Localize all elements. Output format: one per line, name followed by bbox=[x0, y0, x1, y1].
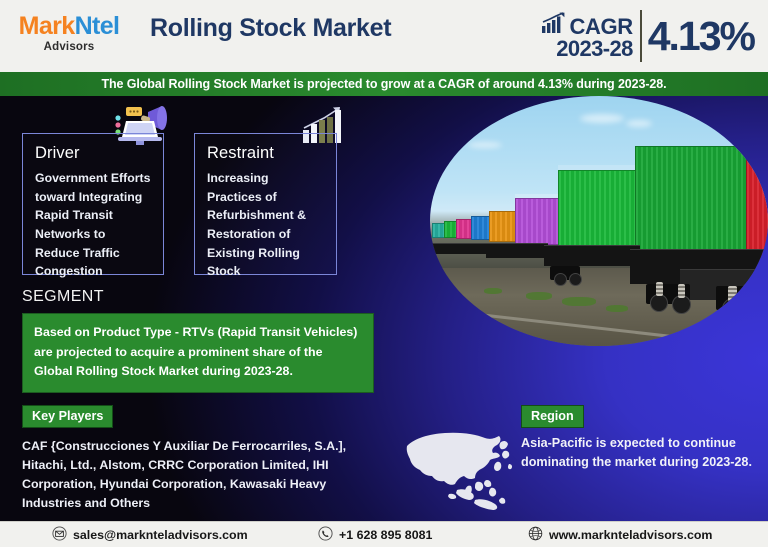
restraint-text: Increasing Practices of Refurbishment & … bbox=[207, 169, 326, 281]
bar-chart-arrow-icon bbox=[541, 12, 567, 38]
markntel-logo[interactable]: MarkNtel Advisors bbox=[14, 14, 124, 54]
page-title: Rolling Stock Market bbox=[150, 14, 391, 43]
key-players-text: CAF {Construcciones Y Auxiliar De Ferroc… bbox=[22, 437, 382, 513]
footer-email-item[interactable]: sales@marknteladvisors.com bbox=[52, 526, 248, 544]
cagr-label-group: CAGR 2023-28 bbox=[541, 12, 640, 61]
restraint-title: Restraint bbox=[207, 144, 326, 163]
footer-website-item[interactable]: www.marknteladvisors.com bbox=[528, 526, 712, 544]
region-text: Asia-Pacific is expected to continue dom… bbox=[521, 434, 753, 472]
cagr-value: 4.13% bbox=[642, 16, 754, 57]
driver-title: Driver bbox=[35, 144, 153, 163]
cagr-years: 2023-28 bbox=[541, 38, 633, 60]
logo-ntel-text: Ntel bbox=[75, 12, 120, 40]
logo-wordmark: MarkNtel bbox=[14, 14, 124, 39]
footer-bar: sales@marknteladvisors.com +1 628 895 80… bbox=[0, 521, 768, 547]
footer-phone-item[interactable]: +1 628 895 8081 bbox=[318, 526, 432, 544]
header-bar: MarkNtel Advisors Rolling Stock Market bbox=[0, 0, 768, 72]
restraint-card: Restraint Increasing Practices of Refurb… bbox=[194, 133, 337, 275]
driver-text: Government Efforts toward Integrating Ra… bbox=[35, 169, 153, 281]
cagr-block: CAGR 2023-28 4.13% bbox=[541, 6, 754, 66]
phone-icon bbox=[318, 526, 333, 544]
segment-box: Based on Product Type - RTVs (Rapid Tran… bbox=[22, 313, 374, 393]
cagr-label-row: CAGR bbox=[541, 12, 633, 38]
driver-card: Driver Government Efforts toward Integra… bbox=[22, 133, 164, 275]
hero-train-image bbox=[430, 96, 768, 346]
asia-pacific-map-icon bbox=[405, 424, 523, 520]
key-players-badge: Key Players bbox=[22, 405, 113, 428]
footer-email-text: sales@marknteladvisors.com bbox=[73, 528, 248, 542]
logo-mark-text: Mark bbox=[19, 12, 75, 40]
cagr-label: CAGR bbox=[570, 16, 633, 38]
footer-website-text: www.marknteladvisors.com bbox=[549, 528, 712, 542]
logo-subtitle: Advisors bbox=[14, 42, 124, 54]
infographic-root: MarkNtel Advisors Rolling Stock Market bbox=[0, 0, 768, 547]
headline-banner: The Global Rolling Stock Market is proje… bbox=[0, 72, 768, 96]
region-badge: Region bbox=[521, 405, 584, 428]
segment-label: SEGMENT bbox=[22, 288, 104, 306]
footer-phone-text: +1 628 895 8081 bbox=[339, 528, 432, 542]
envelope-icon bbox=[52, 526, 67, 544]
globe-icon bbox=[528, 526, 543, 544]
